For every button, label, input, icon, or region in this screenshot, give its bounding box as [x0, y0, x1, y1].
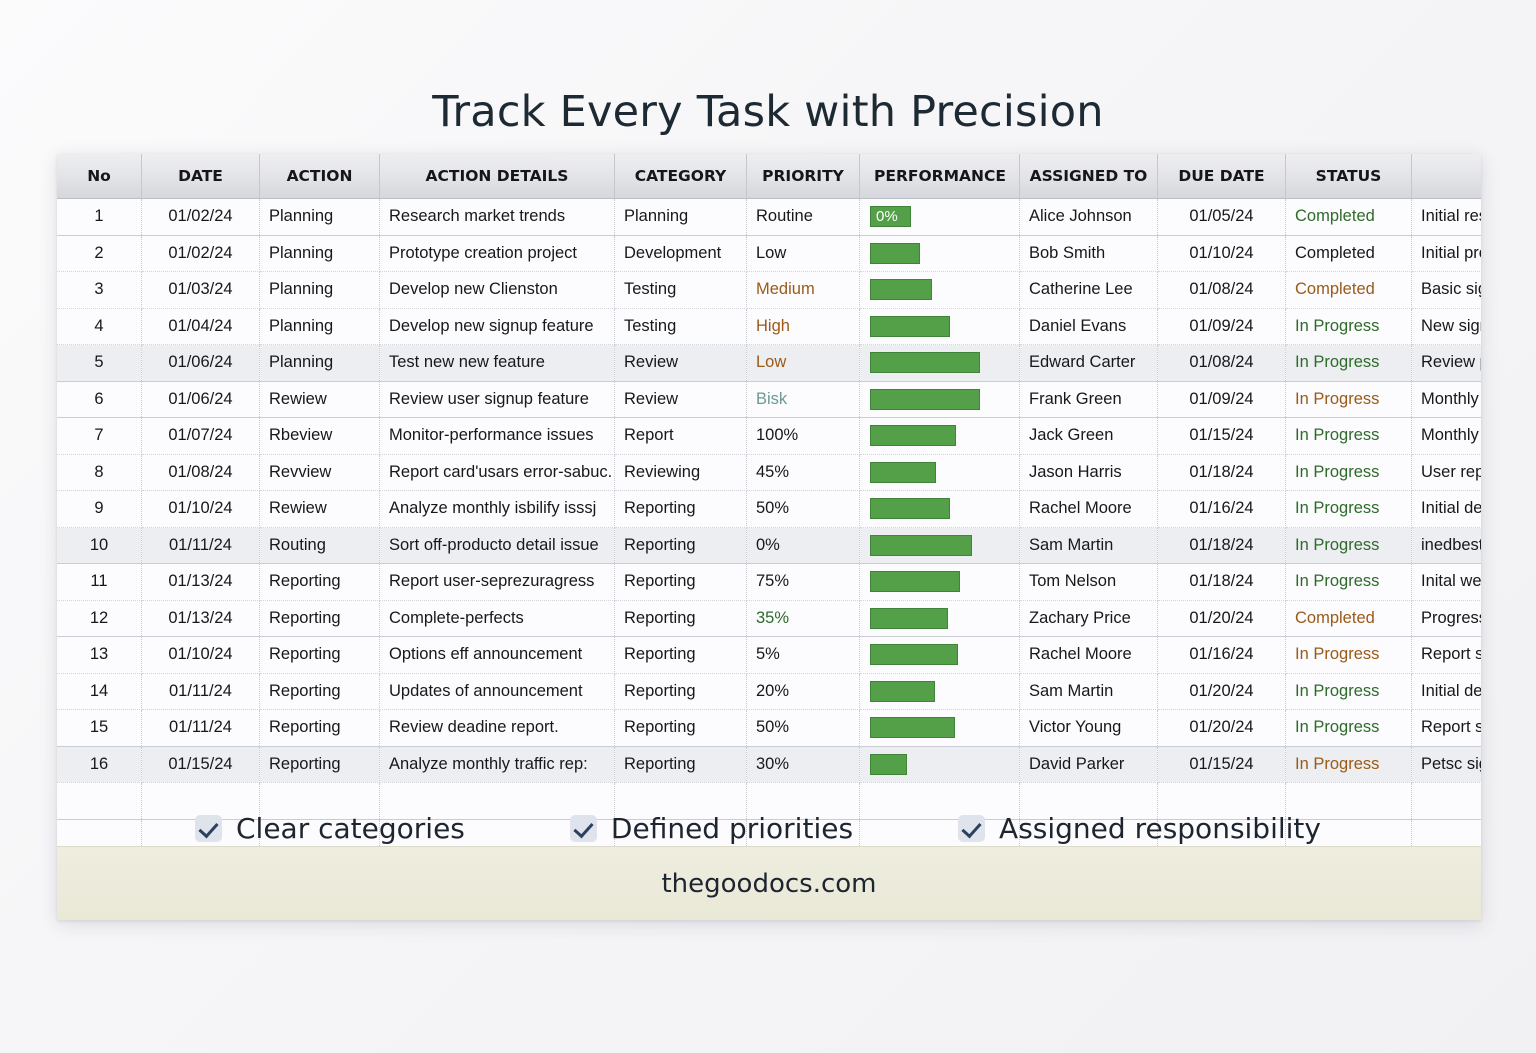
performance-bar [870, 279, 932, 300]
cell-performance [860, 527, 1020, 564]
cell-priority: 0% [747, 527, 860, 564]
cell-no: 8 [57, 454, 142, 491]
cell-status: In Progress [1286, 454, 1412, 491]
cell-no: 13 [57, 637, 142, 674]
cell-performance [860, 564, 1020, 601]
cell-action-details: Monitor-performance issues [380, 418, 615, 455]
table-row[interactable]: 801/08/24RevviewReport card'usars error-… [57, 454, 1481, 491]
cell-assigned-to: Tom Nelson [1020, 564, 1158, 601]
cell-no: 3 [57, 272, 142, 309]
cell-assigned-to: Sam Martin [1020, 527, 1158, 564]
footer-brand: thegoodocs.com [661, 869, 876, 899]
cell-category: Reporting [615, 564, 747, 601]
cell-due-date: 01/18/24 [1158, 454, 1286, 491]
cell-status: In Progress [1286, 381, 1412, 418]
cell-assigned-to: Victor Young [1020, 710, 1158, 747]
performance-bar [870, 571, 960, 592]
cell-status: Completed [1286, 600, 1412, 637]
cell-due-date: 01/15/24 [1158, 418, 1286, 455]
cell-date: 01/06/24 [142, 345, 260, 382]
cell-action: Rbeview [260, 418, 380, 455]
cell-performance: 0% [860, 199, 1020, 236]
cell-action-details: Develop new signup feature [380, 308, 615, 345]
cell-category: Review [615, 381, 747, 418]
cell-date: 01/13/24 [142, 564, 260, 601]
cell-date: 01/02/24 [142, 199, 260, 236]
cell-action: Planning [260, 272, 380, 309]
cell-category: Report [615, 418, 747, 455]
performance-bar [870, 681, 935, 702]
feature-label: Assigned responsibility [999, 812, 1321, 845]
cell-assigned-to: Frank Green [1020, 381, 1158, 418]
table-row[interactable]: 1001/11/24RoutingSort off-producto detai… [57, 527, 1481, 564]
cell-progres-notes: New signup feature ready for review [1412, 308, 1482, 345]
cell-status: In Progress [1286, 345, 1412, 382]
cell-performance [860, 345, 1020, 382]
cell-action: Reporting [260, 637, 380, 674]
cell-performance [860, 600, 1020, 637]
cell-assigned-to: Catherine Lee [1020, 272, 1158, 309]
feature-item-defined-priorities[interactable]: Defined priorities [570, 812, 853, 845]
cell-action: Reporting [260, 710, 380, 747]
cell-date: 01/10/24 [142, 637, 260, 674]
column-header-action-details[interactable]: ACTION DETAILS [380, 154, 615, 199]
cell-priority: 20% [747, 673, 860, 710]
cell-date: 01/10/24 [142, 491, 260, 528]
cell-no: 7 [57, 418, 142, 455]
cell-action: Planning [260, 345, 380, 382]
task-table: No DATE ACTION ACTION DETAILS CATEGORY P… [57, 154, 1481, 856]
cell-category: Development [615, 235, 747, 272]
cell-assigned-to: Sam Martin [1020, 673, 1158, 710]
cell-priority: 5% [747, 637, 860, 674]
cell-performance [860, 272, 1020, 309]
cell-status: In Progress [1286, 527, 1412, 564]
cell-action-details: Complete-perfects [380, 600, 615, 637]
cell-progres-notes: inedbest 'sutitationis, stmest.rebett [1412, 527, 1482, 564]
checkmark-icon [570, 815, 597, 842]
cell-no: 15 [57, 710, 142, 747]
column-header-status[interactable]: STATUS [1286, 154, 1412, 199]
cell-assigned-to: Rachel Moore [1020, 637, 1158, 674]
cell-progres-notes: Basic signup sheets, and flow [1412, 272, 1482, 309]
cell-performance [860, 454, 1020, 491]
performance-bar [870, 352, 980, 373]
column-header-progres-notes[interactable]: PROGRES NOTES [1412, 154, 1482, 199]
table-row[interactable]: 501/06/24PlanningTest new new featureRev… [57, 345, 1481, 382]
cell-due-date: 01/10/24 [1158, 235, 1286, 272]
performance-bar [870, 608, 948, 629]
cell-assigned-to: Alice Johnson [1020, 199, 1158, 236]
performance-bar [870, 243, 920, 264]
table-row[interactable]: 601/06/24RewiewReview user signup featur… [57, 381, 1481, 418]
cell-due-date: 01/16/24 [1158, 491, 1286, 528]
cell-action-details: Report card'usars error-sabuc. [380, 454, 615, 491]
cell-category: Review [615, 345, 747, 382]
cell-date: 01/11/24 [142, 710, 260, 747]
cell-performance [860, 637, 1020, 674]
table-row[interactable]: 1401/11/24ReportingUpdates of announceme… [57, 673, 1481, 710]
column-header-no[interactable]: No [57, 154, 142, 199]
cell-category: Reporting [615, 491, 747, 528]
cell-progres-notes: Review pending design changs [1412, 345, 1482, 382]
cell-due-date: 01/20/24 [1158, 673, 1286, 710]
checkmark-icon [958, 815, 985, 842]
cell-no: 2 [57, 235, 142, 272]
table-row[interactable]: 901/10/24RewiewAnalyze monthly isbilify … [57, 491, 1481, 528]
column-header-category[interactable]: CATEGORY [615, 154, 747, 199]
cell-action-details: Test new new feature [380, 345, 615, 382]
cell-status: In Progress [1286, 564, 1412, 601]
cell-action-details: Sort off-producto detail issue [380, 527, 615, 564]
column-header-due-date[interactable]: DUE DATE [1158, 154, 1286, 199]
table-row[interactable]: 101/02/24PlanningResearch market trendsP… [57, 199, 1481, 236]
feature-item-clear-categories[interactable]: Clear categories [195, 812, 465, 845]
column-header-date[interactable]: DATE [142, 154, 260, 199]
cell-progres-notes: Initial research completed; awaiting app… [1412, 199, 1482, 236]
column-header-performance[interactable]: PERFORMANCE [860, 154, 1020, 199]
table-row[interactable]: 1501/11/24ReportingReview deadine report… [57, 710, 1481, 747]
cell-status: In Progress [1286, 637, 1412, 674]
cell-performance [860, 673, 1020, 710]
cell-date: 01/11/24 [142, 527, 260, 564]
cell-action: Rewiew [260, 491, 380, 528]
cell-action: Reporting [260, 600, 380, 637]
cell-status: In Progress [1286, 710, 1412, 747]
cell-priority: Routine [747, 199, 860, 236]
cell-action: Rewiew [260, 381, 380, 418]
cell-date: 01/02/24 [142, 235, 260, 272]
cell-priority: Bisk [747, 381, 860, 418]
cell-action-details: Updates of announcement [380, 673, 615, 710]
performance-bar [870, 717, 955, 738]
performance-bar: 0% [870, 206, 911, 227]
cell-action-details: Analyze monthly isbilify isssj [380, 491, 615, 528]
cell-progres-notes: Initial project plan submitied for revie… [1412, 235, 1482, 272]
cell-progres-notes: Initial depedi.tna cepnsitan, isssing. [1412, 673, 1482, 710]
cell-priority: 50% [747, 491, 860, 528]
performance-bar [870, 316, 950, 337]
cell-no: 4 [57, 308, 142, 345]
cell-action: Planning [260, 199, 380, 236]
cell-date: 01/04/24 [142, 308, 260, 345]
cell-action-details: Report user-seprezuragress [380, 564, 615, 601]
cell-action-details: Prototype creation project [380, 235, 615, 272]
cell-action: Planning [260, 308, 380, 345]
table-row[interactable]: 201/02/24PlanningPrototype creation proj… [57, 235, 1481, 272]
cell-priority: 100% [747, 418, 860, 455]
cell-date: 01/07/24 [142, 418, 260, 455]
table-row[interactable]: 1201/13/24ReportingComplete-perfectsRepo… [57, 600, 1481, 637]
feature-item-assigned-responsibility[interactable]: Assigned responsibility [958, 812, 1321, 845]
cell-assigned-to: Zachary Price [1020, 600, 1158, 637]
cell-progres-notes: Report sasvai tredis.conced.comm [1412, 710, 1482, 747]
cell-date: 01/11/24 [142, 673, 260, 710]
cell-assigned-to: Jack Green [1020, 418, 1158, 455]
table-header: No DATE ACTION ACTION DETAILS CATEGORY P… [57, 154, 1481, 199]
performance-bar [870, 425, 956, 446]
cell-no: 14 [57, 673, 142, 710]
cell-status: In Progress [1286, 491, 1412, 528]
cell-category: Reporting [615, 637, 747, 674]
page-title: Track Every Task with Precision [0, 29, 1536, 134]
cell-category: Reporting [615, 527, 747, 564]
cell-assigned-to: Daniel Evans [1020, 308, 1158, 345]
table-row[interactable]: 701/07/24RbeviewMonitor-performance issu… [57, 418, 1481, 455]
table-header-row: No DATE ACTION ACTION DETAILS CATEGORY P… [57, 154, 1481, 199]
cell-priority: Medium [747, 272, 860, 309]
cell-action-details: Develop new Clienston [380, 272, 615, 309]
cell-assigned-to: Bob Smith [1020, 235, 1158, 272]
cell-assigned-to: Rachel Moore [1020, 491, 1158, 528]
cell-performance [860, 308, 1020, 345]
cell-priority: High [747, 308, 860, 345]
performance-bar [870, 462, 936, 483]
cell-date: 01/13/24 [142, 600, 260, 637]
cell-priority: Low [747, 345, 860, 382]
table-row[interactable]: 301/03/24PlanningDevelop new ClienstonTe… [57, 272, 1481, 309]
cell-action-details: Review user signup feature [380, 381, 615, 418]
cell-date: 01/08/24 [142, 454, 260, 491]
cell-no: 1 [57, 199, 142, 236]
cell-due-date: 01/20/24 [1158, 710, 1286, 747]
cell-category: Reporting [615, 673, 747, 710]
table-row[interactable]: 401/04/24PlanningDevelop new signup feat… [57, 308, 1481, 345]
performance-bar [870, 754, 907, 775]
performance-bar [870, 498, 950, 519]
cell-priority: 35% [747, 600, 860, 637]
cell-no: 11 [57, 564, 142, 601]
column-header-action[interactable]: ACTION [260, 154, 380, 199]
performance-bar [870, 389, 980, 410]
feature-label: Defined priorities [611, 812, 853, 845]
feature-label: Clear categories [236, 812, 465, 845]
cell-due-date: 01/08/24 [1158, 272, 1286, 309]
cell-progres-notes: Monthly system reliability & incident [1412, 381, 1482, 418]
cell-date: 01/06/24 [142, 381, 260, 418]
cell-action-details: Research market trends [380, 199, 615, 236]
cell-action-details: Options eff announcement [380, 637, 615, 674]
cell-category: Reporting [615, 600, 747, 637]
cell-action: Planning [260, 235, 380, 272]
cell-due-date: 01/16/24 [1158, 637, 1286, 674]
cell-action: Reporting [260, 673, 380, 710]
cell-due-date: 01/05/24 [1158, 199, 1286, 236]
cell-status: Completed [1286, 199, 1412, 236]
table-row[interactable]: 1301/10/24ReportingOptions eff announcem… [57, 637, 1481, 674]
performance-bar [870, 535, 972, 556]
cell-status: In Progress [1286, 673, 1412, 710]
cell-due-date: 01/09/24 [1158, 381, 1286, 418]
cell-due-date: 01/18/24 [1158, 527, 1286, 564]
cell-action: Revview [260, 454, 380, 491]
cell-action-details: Review deadine report. [380, 710, 615, 747]
cell-status: In Progress [1286, 308, 1412, 345]
cell-action: Routing [260, 527, 380, 564]
cell-progres-notes: Progress.stitaation.ncl. adviers.task [1412, 600, 1482, 637]
table-body: 101/02/24PlanningResearch market trendsP… [57, 199, 1481, 856]
task-tracker-card: No DATE ACTION ACTION DETAILS CATEGORY P… [57, 154, 1481, 920]
cell-category: Planning [615, 199, 747, 236]
column-header-assigned-to[interactable]: ASSIGNED TO [1020, 154, 1158, 199]
cell-action: Reporting [260, 564, 380, 601]
cell-due-date: 01/20/24 [1158, 600, 1286, 637]
cell-no: 9 [57, 491, 142, 528]
cell-progres-notes: User report geneeated; awaiting feedb [1412, 454, 1482, 491]
cell-priority: 50% [747, 710, 860, 747]
cell-due-date: 01/08/24 [1158, 345, 1286, 382]
cell-performance [860, 491, 1020, 528]
cell-due-date: 01/09/24 [1158, 308, 1286, 345]
cell-status: In Progress [1286, 418, 1412, 455]
cell-no: 5 [57, 345, 142, 382]
checkmark-icon [195, 815, 222, 842]
table-row[interactable]: 1101/13/24ReportingReport user-seprezura… [57, 564, 1481, 601]
cell-performance [860, 418, 1020, 455]
cell-no: 6 [57, 381, 142, 418]
cell-performance [860, 710, 1020, 747]
cell-assigned-to: Jason Harris [1020, 454, 1158, 491]
cell-performance [860, 381, 1020, 418]
footer-band: thegoodocs.com [57, 846, 1481, 920]
cell-progres-notes: Inital webstaditbwerdhes. [1412, 564, 1482, 601]
cell-due-date: 01/18/24 [1158, 564, 1286, 601]
column-header-priority[interactable]: PRIORITY [747, 154, 860, 199]
cell-performance [860, 235, 1020, 272]
cell-progres-notes: Initial dependency tasks impact est [1412, 491, 1482, 528]
cell-status: Completed [1286, 235, 1412, 272]
cell-category: Reviewing [615, 454, 747, 491]
cell-priority: 75% [747, 564, 860, 601]
cell-category: Testing [615, 272, 747, 309]
cell-no: 12 [57, 600, 142, 637]
cell-category: Testing [615, 308, 747, 345]
cell-progres-notes: Report saibalatial; Advidend. data. [1412, 637, 1482, 674]
performance-bar [870, 644, 958, 665]
cell-assigned-to: Edward Carter [1020, 345, 1158, 382]
cell-date: 01/03/24 [142, 272, 260, 309]
cell-priority: Low [747, 235, 860, 272]
cell-priority: 45% [747, 454, 860, 491]
cell-progres-notes: Monthly reistem reliability & incidinc [1412, 418, 1482, 455]
cell-category: Reporting [615, 710, 747, 747]
cell-status: Completed [1286, 272, 1412, 309]
cell-no: 10 [57, 527, 142, 564]
